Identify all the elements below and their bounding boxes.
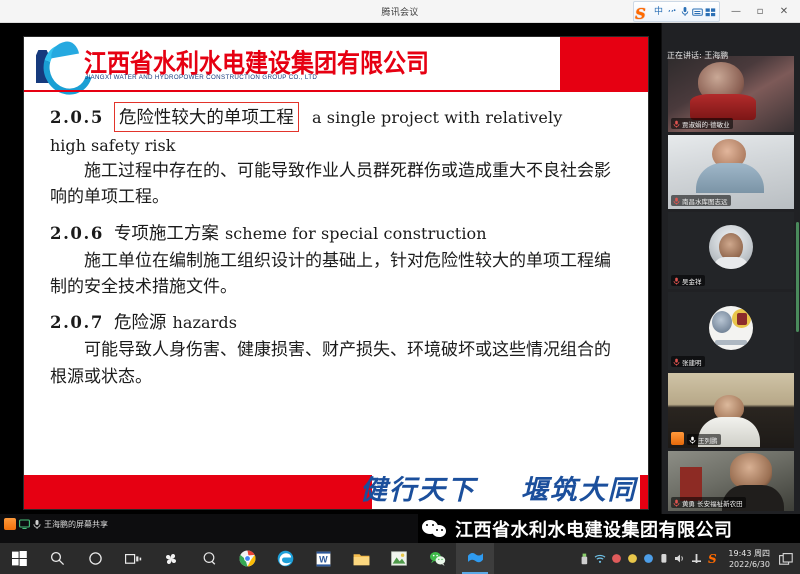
tray-battery[interactable] <box>640 543 656 574</box>
toolbox-icon[interactable] <box>705 6 716 18</box>
company-name-en: JIANGXI WATER AND HYDROPOWER CONSTRUCTIO… <box>85 74 317 81</box>
ime-mode-toggle[interactable]: 中 <box>653 6 664 18</box>
windows-taskbar[interactable]: W <box>0 543 800 574</box>
participant-tile[interactable]: 张建明 <box>668 292 794 370</box>
folder-icon <box>353 552 370 566</box>
share-status-group: 王海鹏的屏幕共享 <box>4 518 108 530</box>
wechat-account-name: 江西省水利水电建设集团有限公司 <box>455 516 733 542</box>
participant-name-chip: 王列鹏 <box>687 434 721 445</box>
clause-heading: 2.0.7 危险源 hazards <box>24 309 648 334</box>
share-status-label: 王海鹏的屏幕共享 <box>44 519 108 530</box>
participant-name-chip: 贾淑娟的·德敏业 <box>671 118 733 129</box>
chrome-icon <box>239 550 256 567</box>
start-button[interactable] <box>0 543 38 574</box>
slide-footer: 健行天下 堰筑大同 <box>24 461 648 509</box>
window-titlebar: 腾讯会议 S 中 — ▫ ✕ <box>0 0 800 23</box>
volume-icon <box>674 553 686 564</box>
task-view-button[interactable] <box>114 543 152 574</box>
microphone-icon[interactable] <box>679 6 690 18</box>
microphone-icon <box>673 120 680 128</box>
participant-name: 王列鹏 <box>698 435 718 445</box>
participant-tile[interactable]: 贾淑娟的·德敏业 <box>668 56 794 132</box>
clause-term-en: hazards <box>172 313 237 332</box>
participant-name-chip: 吴金祥 <box>671 275 705 286</box>
usb-icon <box>580 553 589 565</box>
app-wechat[interactable] <box>418 543 456 574</box>
avatar <box>709 225 753 269</box>
search-button[interactable] <box>38 543 76 574</box>
circle-icon <box>88 551 103 566</box>
microphone-icon <box>673 358 680 366</box>
participant-name-chip: 南昌水库图志远 <box>671 195 731 206</box>
clause-heading: 2.0.6 专项施工方案 scheme for special construc… <box>24 220 648 245</box>
clause-term-en: a single project with relatively <box>312 108 562 127</box>
microphone-icon <box>33 519 41 530</box>
microphone-icon <box>689 436 696 444</box>
company-logo-icon <box>30 41 82 87</box>
clause-number: 2.0.6 <box>50 224 104 243</box>
app-magnifier[interactable] <box>190 543 228 574</box>
app-pinwheel[interactable] <box>152 543 190 574</box>
screen-share-icon <box>19 519 30 530</box>
sogou-logo-letter: S <box>635 5 646 23</box>
taskbar-app-list: W <box>0 543 494 574</box>
shared-screen-stage[interactable]: 江西省水利水电建设集团有限公司 JIANGXI WATER AND HYDROP… <box>0 22 662 514</box>
microphone-icon <box>673 277 680 285</box>
clause-body: 施工单位在编制施工组织设计的基础上，针对危险性较大的单项工程编制的安全技术措施文… <box>24 248 648 301</box>
wechat-icon <box>422 518 448 540</box>
meeting-icon <box>467 551 484 566</box>
participant-name: 贾淑娟的·德敏业 <box>682 119 730 129</box>
notification-icon <box>779 553 793 565</box>
header-divider <box>24 90 648 92</box>
sogou-icon: S <box>708 552 717 566</box>
wechat-icon <box>429 551 446 566</box>
taskbar-clock[interactable]: 19:43 周四 2022/6/30 <box>720 543 776 574</box>
notification-center-button[interactable] <box>776 543 796 574</box>
clause-body: 施工过程中存在的、可能导致作业人员群死群伤或造成重大不良社会影响的单项工程。 <box>24 158 648 211</box>
edge-icon <box>277 550 294 567</box>
presentation-slide: 江西省水利水电建设集团有限公司 JIANGXI WATER AND HYDROP… <box>24 37 648 509</box>
microphone-icon <box>673 197 680 205</box>
clause-heading: 2.0.5 危险性较大的单项工程 a single project with r… <box>24 102 648 132</box>
pinwheel-icon <box>163 551 179 567</box>
speaking-indicator: 正在讲话: 王海鹏 <box>667 50 728 61</box>
minimize-button[interactable]: — <box>724 1 748 21</box>
footer-red-block-right <box>640 475 648 509</box>
slide-header: 江西省水利水电建设集团有限公司 JIANGXI WATER AND HYDROP… <box>24 37 648 91</box>
clause-term: 专项施工方案 <box>114 220 219 245</box>
participant-tile[interactable]: 王列鹏 <box>668 373 794 448</box>
slide-slogan: 健行天下 堰筑大同 <box>360 468 637 507</box>
maximize-button[interactable]: ▫ <box>748 1 772 21</box>
system-tray: S 19:43 周四 2022/6/30 <box>576 543 796 574</box>
app-chrome[interactable] <box>228 543 266 574</box>
tray-cloud[interactable] <box>608 543 624 574</box>
microphone-icon <box>673 499 680 507</box>
clock-date: 2022/6/30 <box>729 559 770 570</box>
app-word[interactable]: W <box>304 543 342 574</box>
photos-icon <box>391 551 407 566</box>
tray-volume[interactable] <box>672 543 688 574</box>
network-icon <box>691 553 702 564</box>
magnifier-icon <box>202 551 217 566</box>
clause-number: 2.0.7 <box>50 313 104 332</box>
app-photos[interactable] <box>380 543 418 574</box>
tray-sogou[interactable]: S <box>704 543 720 574</box>
windows-logo-icon <box>12 551 27 566</box>
footer-red-block-left <box>24 475 372 509</box>
tray-usb[interactable] <box>576 543 592 574</box>
punctuation-icon[interactable] <box>666 6 677 18</box>
wechat-official-account-banner: 江西省水利水电建设集团有限公司 <box>418 514 800 543</box>
svg-text:W: W <box>319 554 328 564</box>
cloud-icon <box>611 553 622 564</box>
participant-tile[interactable]: 吴金祥 <box>668 212 794 289</box>
tray-shield[interactable] <box>624 543 640 574</box>
keyboard-icon[interactable] <box>692 6 703 18</box>
folder-small-icon <box>659 553 669 564</box>
share-status-bar: 王海鹏的屏幕共享 江西省水利水电建设集团有限公司 <box>0 514 800 543</box>
wifi-icon <box>594 553 606 564</box>
header-red-block <box>560 37 648 91</box>
participant-name-chip: 黄勇 长安福祉新农田 <box>671 497 746 508</box>
participant-name: 张建明 <box>682 357 702 367</box>
tray-wifi[interactable] <box>592 543 608 574</box>
participant-filmstrip[interactable]: 贾淑娟的·德敏业 南昌水库图志远 吴金祥 <box>661 22 800 514</box>
participant-name: 南昌水库图志远 <box>682 196 728 206</box>
task-view-icon <box>125 552 142 566</box>
participant-name-chip: 张建明 <box>671 356 705 367</box>
search-icon <box>50 551 65 566</box>
sogou-ime-toolbar[interactable]: S 中 <box>633 1 720 22</box>
clause-term-en: scheme for special construction <box>225 224 487 243</box>
battery-icon <box>643 553 654 564</box>
clause-body: 可能导致人身伤害、健康损害、财产损失、环境破坏或这些情况组合的根源或状态。 <box>24 337 648 390</box>
participant-tile[interactable]: 南昌水库图志远 <box>668 135 794 209</box>
app-explorer[interactable] <box>342 543 380 574</box>
slogan-left: 健行天下 <box>360 475 476 506</box>
avatar <box>709 306 753 350</box>
cortana-button[interactable] <box>76 543 114 574</box>
app-tencent-meeting[interactable] <box>456 543 494 574</box>
close-button[interactable]: ✕ <box>772 1 796 21</box>
meeting-window-body: 江西省水利水电建设集团有限公司 JIANGXI WATER AND HYDROP… <box>0 22 800 514</box>
window-controls: — ▫ ✕ <box>724 0 796 22</box>
participant-name: 黄勇 长安福祉新农田 <box>682 498 743 508</box>
clause-term-en-cont: high safety risk <box>24 136 648 155</box>
clause-term: 危险性较大的单项工程 <box>114 102 299 132</box>
filmstrip-scrollbar[interactable] <box>796 222 799 332</box>
word-icon: W <box>316 551 331 567</box>
sogou-logo-icon[interactable]: S <box>635 4 650 20</box>
slide-body-text: 2.0.5 危险性较大的单项工程 a single project with r… <box>24 93 648 390</box>
shield-icon <box>627 553 638 564</box>
clause-number: 2.0.5 <box>50 108 104 127</box>
clause-term: 危险源 <box>114 309 167 334</box>
tray-network[interactable] <box>688 543 704 574</box>
slogan-right: 堰筑大同 <box>521 475 637 506</box>
participant-name: 吴金祥 <box>682 276 702 286</box>
share-badge-icon <box>671 432 684 445</box>
clock-time: 19:43 周四 <box>728 548 770 559</box>
app-edge[interactable] <box>266 543 304 574</box>
share-app-icon <box>4 518 16 530</box>
participant-tile[interactable]: 黄勇 长安福祉新农田 <box>668 451 794 511</box>
tray-folder[interactable] <box>656 543 672 574</box>
